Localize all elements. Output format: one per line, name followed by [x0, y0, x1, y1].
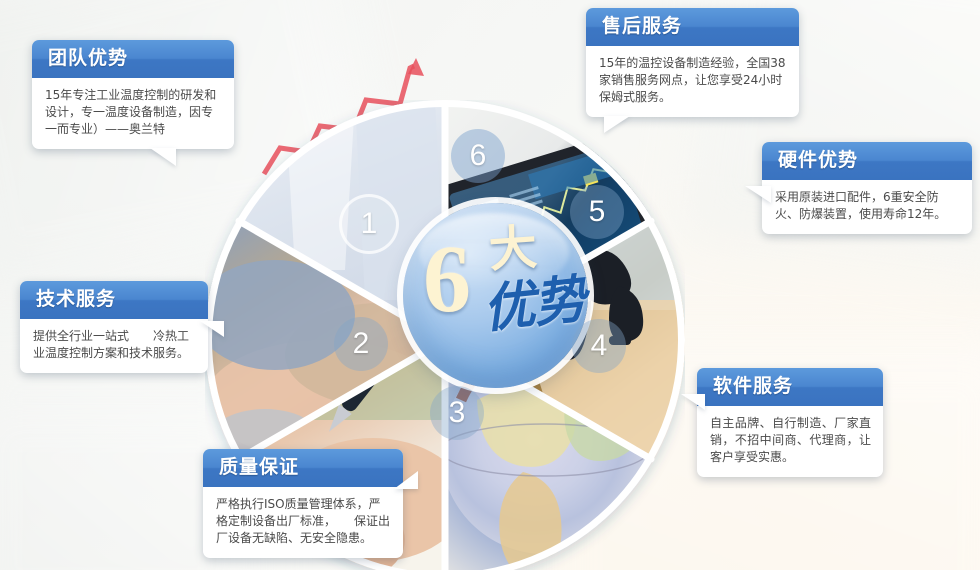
- callout-quality-assurance-tail: [394, 471, 418, 489]
- callout-hardware-title: 硬件优势: [762, 142, 972, 180]
- callout-software-title: 软件服务: [697, 368, 883, 406]
- center-number: 6: [423, 231, 471, 327]
- center-unit: 大: [487, 223, 538, 274]
- segment-number-4[interactable]: 4: [572, 319, 626, 373]
- center-badge: 6 大 优势: [403, 203, 588, 388]
- callout-quality-assurance[interactable]: 质量保证 严格执行ISO质量管理体系，严格定制设备出厂标准， 保证出厂设备无缺陷…: [203, 449, 403, 558]
- callout-team-tail: [150, 148, 176, 166]
- callout-team-advantage[interactable]: 团队优势 15年专注工业温度控制的研发和设计，专一温度设备制造，因专一而专业）—…: [32, 40, 234, 149]
- callout-after-sales-tail: [604, 116, 630, 133]
- callout-software-tail: [681, 394, 705, 410]
- callout-after-sales-title: 售后服务: [586, 8, 799, 46]
- segment-number-5[interactable]: 5: [570, 185, 624, 239]
- callout-team-title: 团队优势: [32, 40, 234, 78]
- segment-number-1[interactable]: 1: [339, 194, 399, 254]
- callout-technical-service-body: 提供全行业一站式 冷热工业温度控制方案和技术服务。: [20, 319, 208, 373]
- callout-technical-service-tail: [200, 321, 224, 337]
- callout-after-sales[interactable]: 售后服务 15年的温控设备制造经验，全国38家销售服务网点，让您享受24小时保姆…: [586, 8, 799, 117]
- callout-hardware[interactable]: 硬件优势 采用原装进口配件，6重安全防火、防爆装置，使用寿命12年。: [762, 142, 972, 234]
- callout-quality-assurance-body: 严格执行ISO质量管理体系，严格定制设备出厂标准， 保证出厂设备无缺陷、无安全隐…: [203, 487, 403, 558]
- infographic-canvas: 6 大 优势 1 2 3 4 5 6 团队优势 15年专注工业温度控制的研发和设…: [0, 0, 980, 570]
- callout-hardware-body: 采用原装进口配件，6重安全防火、防爆装置，使用寿命12年。: [762, 180, 972, 234]
- callout-quality-assurance-title: 质量保证: [203, 449, 403, 487]
- segment-number-6[interactable]: 6: [451, 129, 505, 183]
- callout-technical-service[interactable]: 技术服务 提供全行业一站式 冷热工业温度控制方案和技术服务。: [20, 281, 208, 373]
- segment-number-2[interactable]: 2: [334, 317, 388, 371]
- segment-number-3[interactable]: 3: [430, 386, 484, 440]
- callout-software[interactable]: 软件服务 自主品牌、自行制造、厂家直销，不招中间商、代理商，让客户享受实惠。: [697, 368, 883, 477]
- callout-team-body: 15年专注工业温度控制的研发和设计，专一温度设备制造，因专一而专业）——奥兰特: [32, 78, 234, 149]
- callout-technical-service-title: 技术服务: [20, 281, 208, 319]
- callout-after-sales-body: 15年的温控设备制造经验，全国38家销售服务网点，让您享受24小时保姆式服务。: [586, 46, 799, 117]
- center-word: 优势: [481, 274, 588, 336]
- callout-software-body: 自主品牌、自行制造、厂家直销，不招中间商、代理商，让客户享受实惠。: [697, 406, 883, 477]
- callout-hardware-tail: [745, 186, 771, 203]
